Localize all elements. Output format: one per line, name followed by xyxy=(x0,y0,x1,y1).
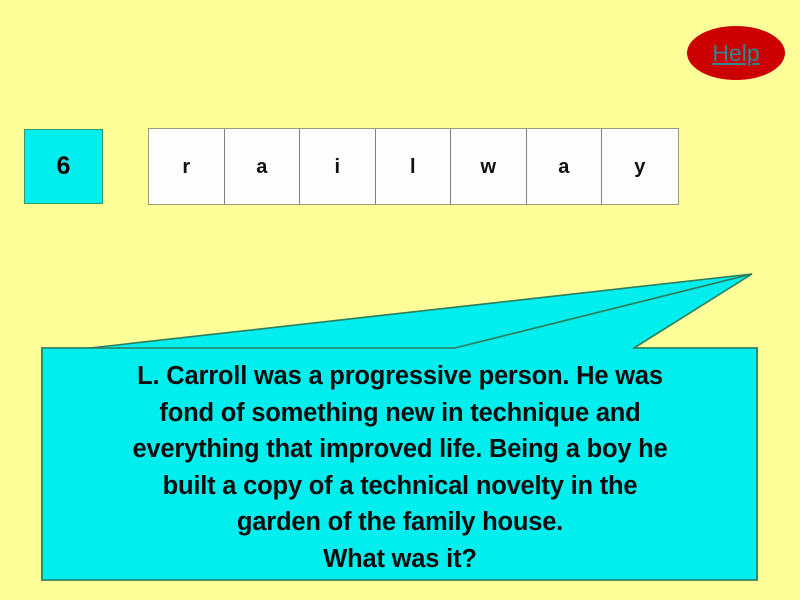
speech-bubble-line: L. Carroll was a progressive person. He … xyxy=(50,358,750,395)
speech-bubble-text: L. Carroll was a progressive person. He … xyxy=(50,358,750,577)
letter-cell[interactable]: i xyxy=(300,129,376,204)
letter-cell-text: l xyxy=(410,157,416,177)
letter-cell-text: y xyxy=(634,157,645,177)
speech-bubble-line: garden of the family house. xyxy=(50,504,750,541)
letter-cell[interactable]: a xyxy=(225,129,301,204)
letter-cell-text: i xyxy=(334,157,340,177)
letter-cell[interactable]: y xyxy=(602,129,678,204)
speech-bubble-line: built a copy of a technical novelty in t… xyxy=(50,468,750,505)
letter-cell[interactable]: w xyxy=(451,129,527,204)
letter-cell[interactable]: l xyxy=(376,129,452,204)
letter-cell-text: r xyxy=(182,157,190,177)
letter-cell-text: a xyxy=(256,157,267,177)
speech-bubble-line: fond of something new in technique and xyxy=(50,395,750,432)
speech-bubble-line: everything that improved life. Being a b… xyxy=(50,431,750,468)
help-button[interactable]: Help xyxy=(687,26,785,80)
speech-bubble: L. Carroll was a progressive person. He … xyxy=(0,260,800,600)
letter-cell-text: w xyxy=(480,157,496,177)
question-number-box: 6 xyxy=(24,129,103,204)
answer-word-row: r a i l w a y xyxy=(148,128,679,205)
help-button-label: Help xyxy=(712,42,759,65)
letter-cell[interactable]: a xyxy=(527,129,603,204)
letter-cell[interactable]: r xyxy=(149,129,225,204)
speech-bubble-line: What was it? xyxy=(50,541,750,578)
letter-cell-text: a xyxy=(558,157,569,177)
question-number-label: 6 xyxy=(57,154,71,179)
slide-canvas: Help 6 r a i l w a y xyxy=(0,0,800,600)
